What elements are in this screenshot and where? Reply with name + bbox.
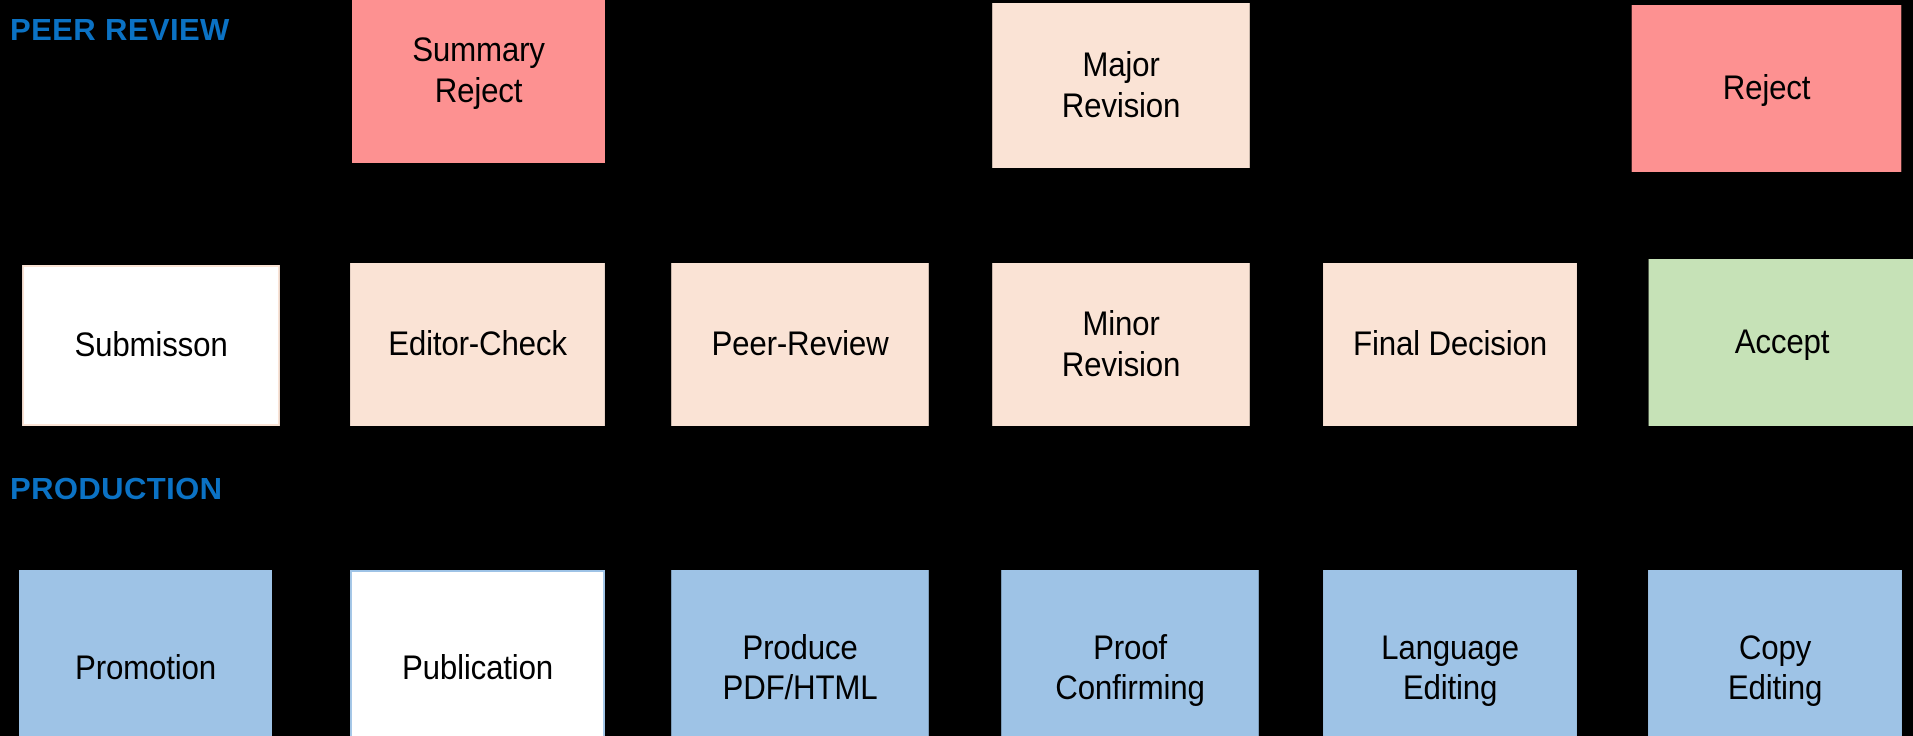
node-promotion[interactable]: Promotion (19, 570, 272, 736)
node-language-editing[interactable]: Language Editing (1323, 570, 1577, 736)
node-publication[interactable]: Publication (350, 570, 605, 736)
node-label: Language Editing (1376, 628, 1525, 708)
node-label: Promotion (70, 648, 222, 688)
node-copy-editing[interactable]: Copy Editing (1648, 570, 1902, 736)
node-label: Major Revision (1056, 45, 1186, 125)
node-label: Proof Confirming (1050, 628, 1210, 708)
node-label: Peer-Review (706, 324, 894, 364)
node-summary-reject[interactable]: Summary Reject (352, 0, 605, 163)
node-label: Summary Reject (407, 30, 551, 110)
node-editor-check[interactable]: Editor-Check (350, 263, 605, 426)
node-label: Reject (1717, 68, 1816, 108)
node-label: Editor-Check (383, 324, 573, 364)
node-proof-confirming[interactable]: Proof Confirming (1001, 570, 1259, 736)
workflow-diagram-canvas: PEER REVIEWPRODUCTIONSummary RejectMajor… (0, 0, 1913, 736)
node-label: Produce PDF/HTML (717, 628, 883, 708)
node-submisson[interactable]: Submisson (22, 265, 280, 426)
node-peer-review[interactable]: Peer-Review (671, 263, 929, 426)
node-label: Publication (396, 648, 558, 688)
node-reject[interactable]: Reject (1632, 5, 1902, 172)
node-produce-pdf-html[interactable]: Produce PDF/HTML (671, 570, 929, 736)
node-accept[interactable]: Accept (1649, 259, 1913, 426)
node-label: Accept (1729, 322, 1835, 362)
node-final-decision[interactable]: Final Decision (1323, 263, 1577, 426)
node-label: Submisson (69, 325, 233, 365)
node-minor-revision[interactable]: Minor Revision (992, 263, 1250, 426)
section-label-production: PRODUCTION (10, 473, 222, 504)
node-label: Final Decision (1348, 324, 1553, 364)
section-label-peer-review: PEER REVIEW (10, 14, 230, 45)
node-label: Minor Revision (1056, 304, 1186, 384)
node-major-revision[interactable]: Major Revision (992, 3, 1250, 168)
node-label: Copy Editing (1722, 628, 1827, 708)
